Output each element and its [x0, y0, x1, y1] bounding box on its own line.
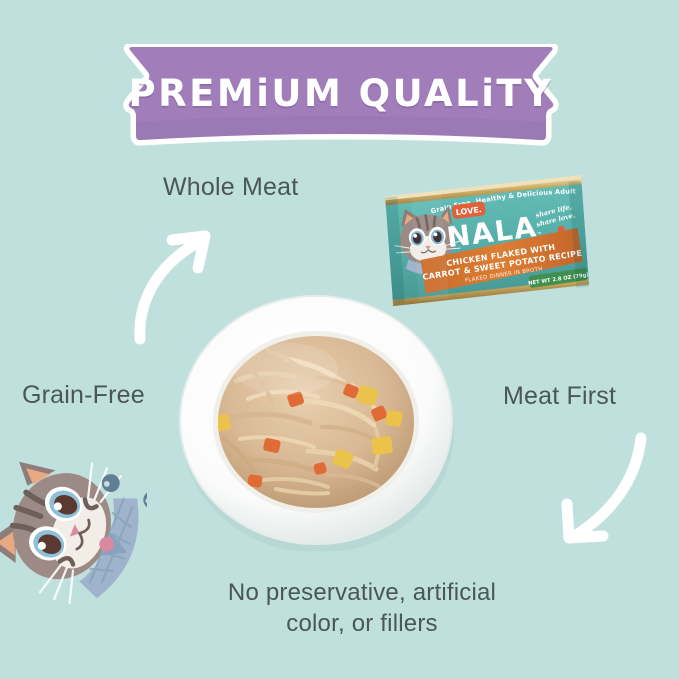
nala-cat-food-can: Grain Free, Healthy & Delicious Adult Ca…: [380, 169, 595, 324]
banner-ribbon-shape: [122, 44, 560, 146]
nala-cat-mascot: [0, 432, 147, 617]
food-bowl: [176, 289, 456, 551]
premium-quality-banner: PREMiUM QUALiTY: [122, 44, 560, 146]
feature-label-meat-first: Meat First: [503, 382, 616, 411]
feature-label-whole-meat: Whole Meat: [163, 173, 298, 202]
feature-label-no-preservative: No preservative, artificial color, or fi…: [222, 578, 502, 639]
feature-label-grain-free: Grain-Free: [22, 381, 145, 410]
infographic-canvas: PREMiUM QUALiTY Whole Meat Grain-Free Me…: [0, 0, 679, 679]
curved-arrow-down-left-icon: [553, 432, 658, 552]
